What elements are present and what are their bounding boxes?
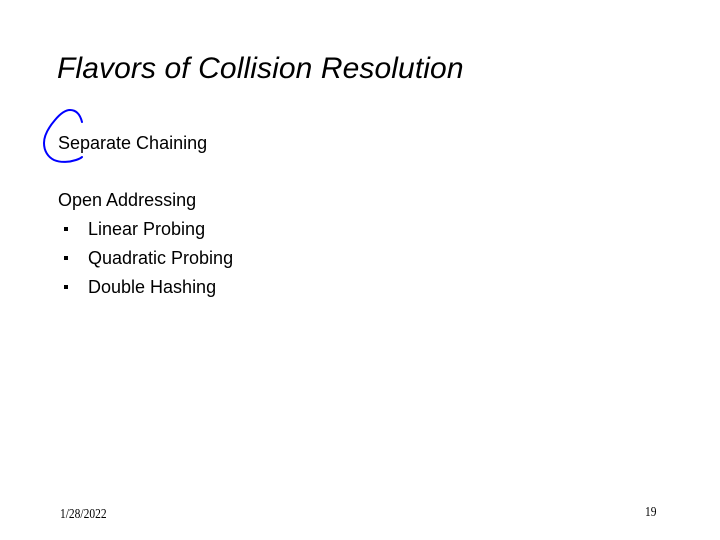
bullet-icon (64, 285, 68, 289)
list-item: Quadratic Probing (88, 247, 233, 269)
list-item: Linear Probing (88, 218, 205, 240)
presentation-slide: Flavors of Collision Resolution Separate… (0, 0, 720, 540)
list-item: Separate Chaining (58, 132, 207, 154)
slide-page-number: 19 (645, 505, 656, 521)
list-item: Double Hashing (88, 276, 216, 298)
bullet-icon (64, 227, 68, 231)
list-item: Open Addressing (58, 189, 196, 211)
bullet-icon (64, 256, 68, 260)
footer-date: 1/28/2022 (60, 507, 107, 523)
slide-body: Separate Chaining Open Addressing Linear… (0, 0, 720, 540)
